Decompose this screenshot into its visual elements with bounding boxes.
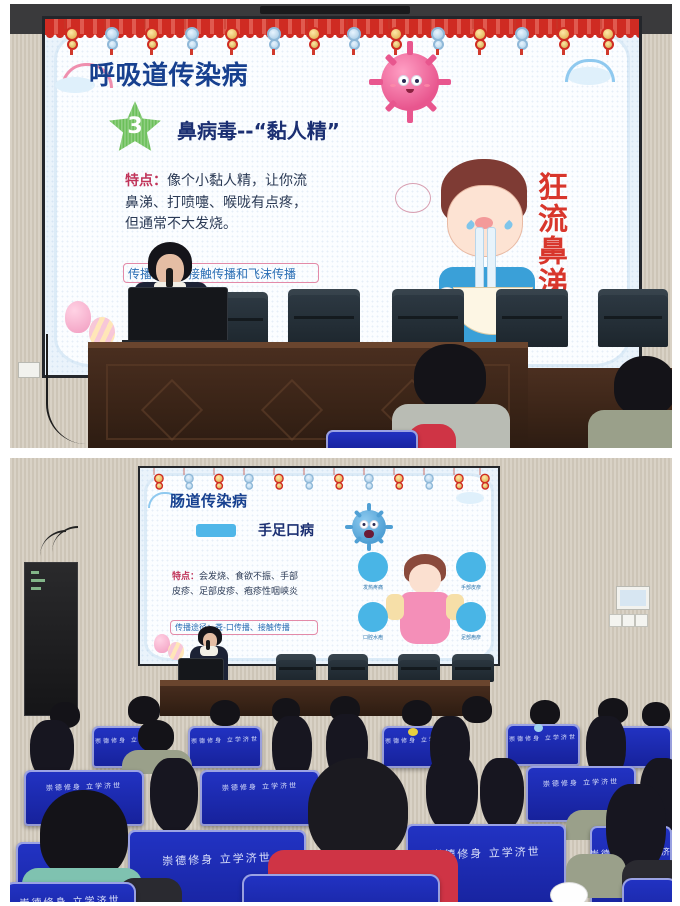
hfmd-illustration: 发热疼痛 手部皮疹 口腔水疱 足部疱疹: [352, 550, 492, 654]
stage-chair: [392, 289, 464, 347]
paper-cup: [550, 882, 588, 902]
audience-hair: [150, 758, 198, 834]
slide-subtitle-2: 手足口病: [258, 520, 314, 540]
audience-head: [642, 702, 670, 727]
audience-seat-near: 崇德修身 立学济世: [10, 882, 136, 902]
audience-head: [138, 720, 174, 752]
stage-chair-2: [276, 654, 316, 682]
av-speaker-rack: [24, 562, 78, 716]
feature-text-block: 特点：像个小黏人精，让你流 鼻涕、打喷嚏、喉咙有点疼， 但通常不大发烧。: [125, 171, 385, 236]
audience-head: [40, 790, 128, 880]
stage-chair-2: [328, 654, 368, 682]
stage-chair: [598, 289, 668, 347]
seat-motto: 崇德修身 立学济世: [200, 780, 320, 794]
feature-line-1: 像个小黏人精，让你流: [167, 173, 307, 189]
audience-head: [614, 356, 672, 416]
symptom-bubble-foot: [456, 602, 486, 632]
audience-head: [210, 700, 240, 726]
seat-motto: 崇德修身 立学济世: [506, 732, 580, 744]
star-badge-number: 3: [107, 99, 163, 153]
audience-seat-near: [622, 878, 672, 902]
audience-head: [462, 696, 492, 723]
feature-line-2-2: 皮疹、足部皮疹、疱疹性咽峡炎: [172, 585, 342, 600]
feature-line-3: 但通常不大发烧。: [125, 214, 385, 236]
balloon-decor: [65, 301, 91, 333]
seat-motto: 崇德修身 立学济世: [188, 734, 262, 746]
presenter-laptop: [128, 287, 228, 343]
audience-head: [530, 700, 560, 726]
audience-head: [402, 700, 432, 726]
feature-label-2: 特点：: [172, 572, 199, 582]
blue-tag: [196, 524, 236, 537]
audience-head: [414, 344, 486, 410]
seat-motto: 崇德修身 立学济世: [10, 890, 136, 902]
stage-chair: [496, 289, 568, 347]
audience-hair: [426, 754, 478, 834]
light-switch[interactable]: [609, 614, 622, 627]
stage-chair-2: [452, 654, 494, 682]
audience-hair: [480, 758, 524, 832]
light-switch[interactable]: [622, 614, 635, 627]
light-switch[interactable]: [635, 614, 648, 627]
microphone-icon-2: [206, 640, 210, 650]
audience-seat: [326, 430, 418, 448]
feature-text-block-2: 特点：会发烧、食欲不振、手部 皮疹、足部皮疹、疱疹性咽峡炎: [172, 570, 342, 601]
red-wave-banner: [45, 19, 639, 35]
symptom-bubble-hand: [456, 552, 486, 582]
ceiling-light: [260, 6, 410, 14]
star-badge: 3: [107, 99, 163, 153]
hair-scrunchie: [408, 728, 418, 736]
vertical-slogan: 狂流鼻涕: [527, 171, 571, 299]
audience-seat: 崇德修身 立学济世: [506, 724, 580, 766]
wall-control-panel[interactable]: [616, 586, 650, 610]
photo-collage: 呼吸道传染病 3 鼻病毒--“黏人精”: [0, 0, 680, 906]
symptom-label-foot: 足部疱疹: [448, 634, 494, 641]
slide-header-2: 肠道传染病: [170, 490, 248, 511]
hair-scrunchie: [534, 724, 543, 732]
audience-seat: 崇德修身 立学济世: [200, 770, 320, 826]
feature-label: 特点：: [125, 173, 167, 189]
feature-line-2-1: 会发烧、食欲不振、手部: [199, 572, 298, 582]
audience-head-front: [308, 758, 408, 862]
bottom-photo: 肠道传染病 手足口病 特点：会发烧、食欲不振、手: [10, 458, 672, 902]
stage-chair-2: [398, 654, 440, 682]
symptom-bubble-mouth: [358, 602, 388, 632]
symptom-label-mouth: 口腔水疱: [350, 634, 396, 641]
audience-seat: 崇德修身 立学济世: [188, 726, 262, 768]
blue-virus-icon: [352, 510, 386, 544]
symptom-bubble-fever: [358, 552, 388, 582]
slide-header: 呼吸道传染病: [89, 55, 248, 92]
wall-outlet: [18, 362, 40, 378]
audience-shoulders: [588, 410, 672, 448]
microphone-icon: [166, 268, 173, 288]
audience-seat-near: [242, 874, 440, 902]
stage-chair: [288, 289, 360, 347]
symptom-label-fever: 发热疼痛: [350, 584, 396, 591]
slide-subtitle: 鼻病毒--“黏人精”: [177, 115, 340, 144]
cloud-decor-2: [456, 492, 484, 504]
feature-line-2: 鼻涕、打喷嚏、喉咙有点疼，: [125, 193, 385, 215]
pink-virus-icon: [381, 53, 439, 111]
symptom-label-hand: 手部皮疹: [448, 584, 494, 591]
top-photo: 呼吸道传染病 3 鼻病毒--“黏人精”: [10, 4, 672, 448]
